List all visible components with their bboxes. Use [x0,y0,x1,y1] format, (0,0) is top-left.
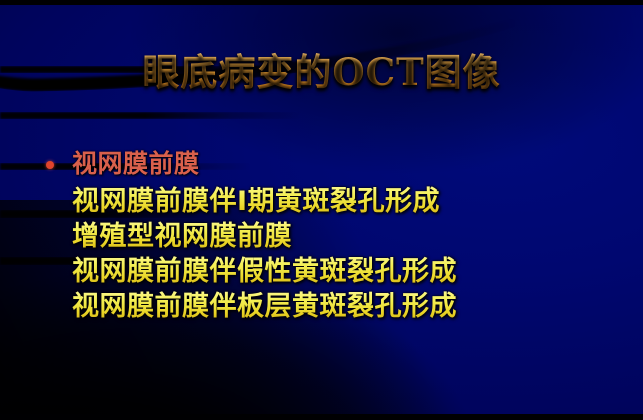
slide-body: 视网膜前膜 视网膜前膜伴Ⅰ期黄斑裂孔形成 增殖型视网膜前膜 视网膜前膜伴假性黄斑… [44,148,604,322]
list-item: 视网膜前膜伴Ⅰ期黄斑裂孔形成 [72,186,604,217]
slide-content: 眼底病变的OCT图像 视网膜前膜 视网膜前膜伴Ⅰ期黄斑裂孔形成 增殖型视网膜前膜… [0,0,643,420]
slide-title: 眼底病变的OCT图像 [0,42,643,96]
round-bullet-icon [46,161,54,169]
bullet-heading-row: 视网膜前膜 [44,148,604,182]
list-item: 视网膜前膜伴假性黄斑裂孔形成 [72,256,604,287]
list-item: 增殖型视网膜前膜 [72,221,604,252]
presentation-slide: 眼底病变的OCT图像 视网膜前膜 视网膜前膜伴Ⅰ期黄斑裂孔形成 增殖型视网膜前膜… [0,0,643,420]
bullet-heading-text: 视网膜前膜 [72,148,200,179]
list-item: 视网膜前膜伴板层黄斑裂孔形成 [72,291,604,322]
